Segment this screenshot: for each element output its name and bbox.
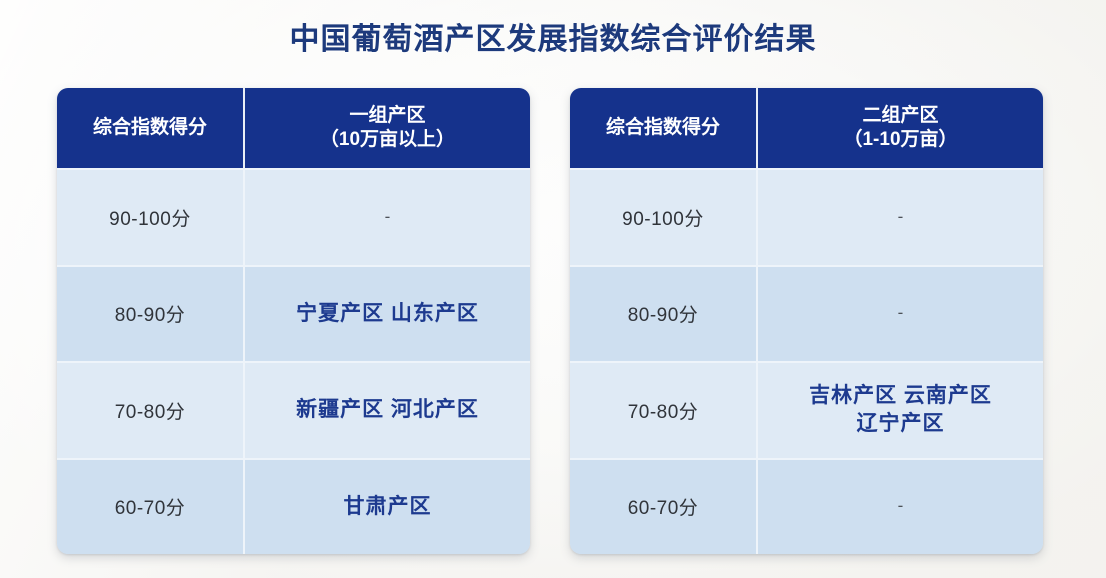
cell-score: 80-90分 bbox=[570, 267, 758, 362]
header-region-line2: （10万亩以上） bbox=[320, 128, 455, 152]
table-row: 70-80分 吉林产区 云南产区 辽宁产区 bbox=[570, 361, 1043, 458]
cell-regions: - bbox=[758, 460, 1043, 555]
table-row: 90-100分 - bbox=[57, 168, 530, 265]
table-row: 60-70分 甘肃产区 bbox=[57, 458, 530, 555]
header-region-line1: 二组产区 bbox=[843, 104, 957, 128]
cell-regions: - bbox=[245, 170, 530, 265]
header-cell-score: 综合指数得分 bbox=[570, 88, 758, 168]
table-body: 90-100分 - 80-90分 - 70-80分 吉林产区 云南产区 辽宁产区… bbox=[570, 168, 1043, 554]
header-region-line1: 一组产区 bbox=[320, 104, 455, 128]
cell-regions: 甘肃产区 bbox=[245, 460, 530, 555]
cell-regions: 宁夏产区 山东产区 bbox=[245, 267, 530, 362]
cell-score: 70-80分 bbox=[57, 363, 245, 458]
page-title: 中国葡萄酒产区发展指数综合评价结果 bbox=[0, 14, 1106, 58]
table-row: 60-70分 - bbox=[570, 458, 1043, 555]
cell-score: 80-90分 bbox=[57, 267, 245, 362]
cell-score: 90-100分 bbox=[57, 170, 245, 265]
cell-regions: 新疆产区 河北产区 bbox=[245, 363, 530, 458]
score-table-group-two: 综合指数得分 二组产区 （1-10万亩） 90-100分 - 80-90分 - … bbox=[570, 88, 1043, 554]
table-row: 80-90分 宁夏产区 山东产区 bbox=[57, 265, 530, 362]
header-cell-region: 一组产区 （10万亩以上） bbox=[245, 88, 530, 168]
table-body: 90-100分 - 80-90分 宁夏产区 山东产区 70-80分 新疆产区 河… bbox=[57, 168, 530, 554]
cell-score: 90-100分 bbox=[570, 170, 758, 265]
table-header-row: 综合指数得分 一组产区 （10万亩以上） bbox=[57, 88, 530, 168]
cell-regions: - bbox=[758, 170, 1043, 265]
header-region-line2: （1-10万亩） bbox=[843, 128, 957, 152]
cell-regions: - bbox=[758, 267, 1043, 362]
cell-score: 70-80分 bbox=[570, 363, 758, 458]
table-header-row: 综合指数得分 二组产区 （1-10万亩） bbox=[570, 88, 1043, 168]
table-row: 80-90分 - bbox=[570, 265, 1043, 362]
cell-regions: 吉林产区 云南产区 辽宁产区 bbox=[758, 363, 1043, 458]
table-row: 90-100分 - bbox=[570, 168, 1043, 265]
table-row: 70-80分 新疆产区 河北产区 bbox=[57, 361, 530, 458]
header-cell-score: 综合指数得分 bbox=[57, 88, 245, 168]
score-table-group-one: 综合指数得分 一组产区 （10万亩以上） 90-100分 - 80-90分 宁夏… bbox=[57, 88, 530, 554]
header-cell-region: 二组产区 （1-10万亩） bbox=[758, 88, 1043, 168]
cell-score: 60-70分 bbox=[57, 460, 245, 555]
tables-container: 综合指数得分 一组产区 （10万亩以上） 90-100分 - 80-90分 宁夏… bbox=[57, 88, 1043, 554]
cell-score: 60-70分 bbox=[570, 460, 758, 555]
